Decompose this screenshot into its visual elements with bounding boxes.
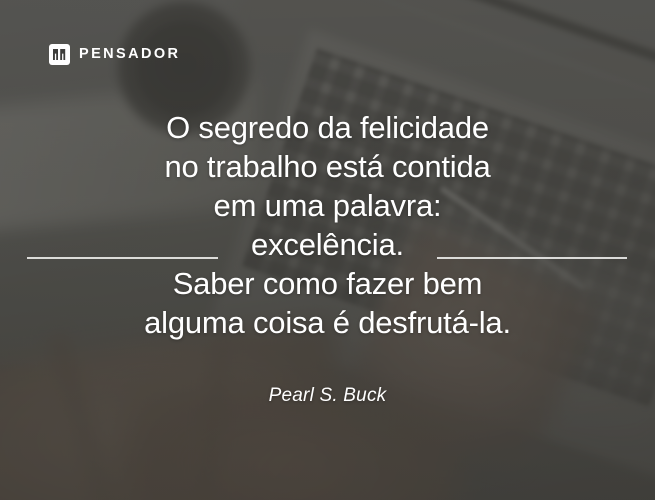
quote-line-6: alguma coisa é desfrutá-la. [0,303,655,342]
quote-card: PENSADOR O segredo da felicidade no trab… [0,0,655,500]
divider-rule-right [437,257,627,259]
divider-rule-left [27,257,218,259]
quote-author[interactable]: Pearl S. Buck [0,385,655,407]
quote-line-3: em uma palavra: [0,186,655,225]
quote-line-2: no trabalho está contida [0,147,655,186]
quotation-mark-icon [49,44,70,65]
quote-line-1: O segredo da felicidade [0,108,655,147]
quote-line-5: Saber como fazer bem [0,264,655,303]
brand-name: PENSADOR [79,47,180,62]
card-content: PENSADOR O segredo da felicidade no trab… [0,0,655,500]
quote-text: O segredo da felicidade no trabalho está… [0,108,655,342]
brand-logo[interactable]: PENSADOR [49,44,180,65]
